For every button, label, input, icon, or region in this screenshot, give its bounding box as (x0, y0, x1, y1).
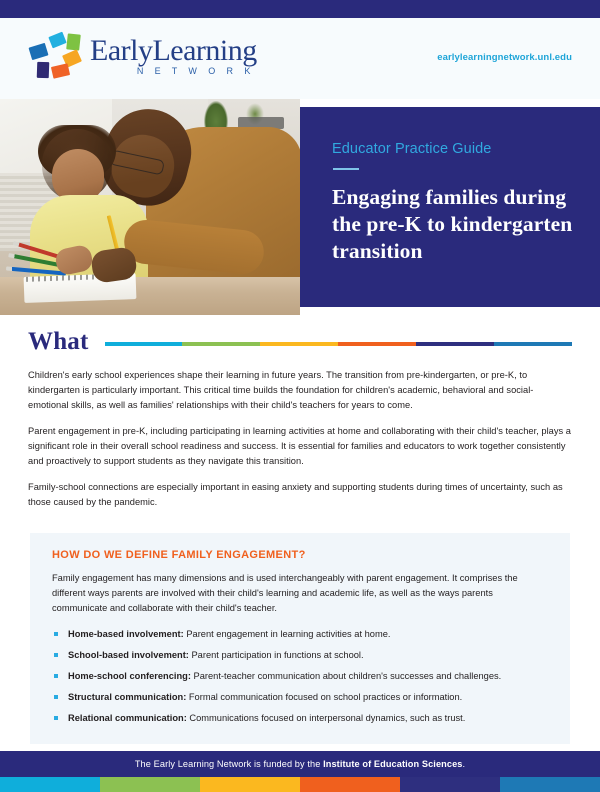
bullet-icon (54, 653, 58, 657)
list-item: Relational communication: Communications… (52, 712, 548, 726)
logo-wordmark-secondary: N E T W O R K (90, 67, 257, 76)
stripe-segment-3 (200, 777, 300, 792)
list-item-description: Parent-teacher communication about child… (191, 671, 501, 681)
rule-segment-3 (260, 342, 338, 346)
list-item-description: Communications focused on interpersonal … (187, 713, 466, 723)
footer-text-tail: . (463, 759, 466, 769)
list-item: School-based involvement: Parent partici… (52, 649, 548, 663)
bullet-icon (54, 695, 58, 699)
rule-segment-1 (105, 342, 183, 346)
logo-square-cyan (48, 32, 66, 49)
section-rule (105, 342, 572, 346)
brand-logo[interactable]: EarlyLearning N E T W O R K (28, 32, 257, 80)
list-item-term: Home-based involvement: (68, 629, 184, 639)
logo-square-blue (28, 43, 48, 60)
list-item-term: Home-school conferencing: (68, 671, 191, 681)
list-item-term: School-based involvement: (68, 650, 189, 660)
stripe-segment-6 (500, 777, 600, 792)
logo-wordmark: EarlyLearning N E T W O R K (90, 36, 257, 76)
what-section-header: What (0, 329, 600, 354)
list-item-term: Relational communication: (68, 713, 187, 723)
bullet-icon (54, 632, 58, 636)
list-item: Home-based involvement: Parent engagemen… (52, 628, 548, 642)
hero-title-panel: Educator Practice Guide Engaging familie… (300, 107, 600, 307)
engagement-dimensions-list: Home-based involvement: Parent engagemen… (52, 628, 548, 726)
hero-section: Educator Practice Guide Engaging familie… (0, 99, 600, 315)
main-content: What Children's early school experiences… (0, 315, 600, 521)
page-header: EarlyLearning N E T W O R K earlylearnin… (0, 18, 600, 99)
list-item: Structural communication: Formal communi… (52, 691, 548, 705)
hero-title: Engaging families during the pre-K to ki… (332, 184, 574, 265)
footer-text-bold: Institute of Education Sciences (323, 759, 462, 769)
document-page: EarlyLearning N E T W O R K earlylearnin… (0, 0, 600, 792)
paragraph: Children's early school experiences shap… (28, 368, 572, 413)
what-body-copy: Children's early school experiences shap… (0, 368, 600, 510)
callout-body-text: Family engagement has many dimensions an… (52, 571, 548, 616)
logo-wordmark-primary: EarlyLearning (90, 36, 257, 66)
rule-segment-5 (416, 342, 494, 346)
rule-segment-2 (182, 342, 260, 346)
list-item-description: Formal communication focused on school p… (186, 692, 462, 702)
page-footer: The Early Learning Network is funded by … (0, 751, 600, 777)
logo-square-green (66, 33, 81, 50)
hero-eyebrow-rule (333, 168, 359, 170)
list-item-description: Parent engagement in learning activities… (184, 629, 391, 639)
list-item-term: Structural communication: (68, 692, 186, 702)
top-accent-bar (0, 0, 600, 18)
callout-heading: HOW DO WE DEFINE FAMILY ENGAGEMENT? (52, 549, 548, 561)
page-title: What (28, 329, 89, 354)
footer-text-lead: The Early Learning Network is funded by … (135, 759, 323, 769)
stripe-segment-2 (100, 777, 200, 792)
paragraph: Parent engagement in pre-K, including pa… (28, 424, 572, 469)
stripe-segment-4 (300, 777, 400, 792)
logo-square-navy (37, 62, 50, 78)
stripe-segment-5 (400, 777, 500, 792)
footer-funding-text: The Early Learning Network is funded by … (135, 759, 465, 769)
hero-photo (0, 99, 300, 315)
hero-eyebrow: Educator Practice Guide (332, 141, 574, 157)
list-item-description: Parent participation in functions at sch… (189, 650, 364, 660)
logo-square-orange (51, 63, 70, 79)
family-engagement-callout: HOW DO WE DEFINE FAMILY ENGAGEMENT? Fami… (30, 533, 570, 744)
bullet-icon (54, 716, 58, 720)
paragraph: Family-school connections are especially… (28, 480, 572, 510)
list-item: Home-school conferencing: Parent-teacher… (52, 670, 548, 684)
footer-color-stripe (0, 777, 600, 792)
early-learning-network-logo-icon (28, 32, 84, 80)
bullet-icon (54, 674, 58, 678)
rule-segment-4 (338, 342, 416, 346)
stripe-segment-1 (0, 777, 100, 792)
header-website-url[interactable]: earlylearningnetwork.unl.edu (437, 52, 572, 63)
rule-segment-6 (494, 342, 572, 346)
